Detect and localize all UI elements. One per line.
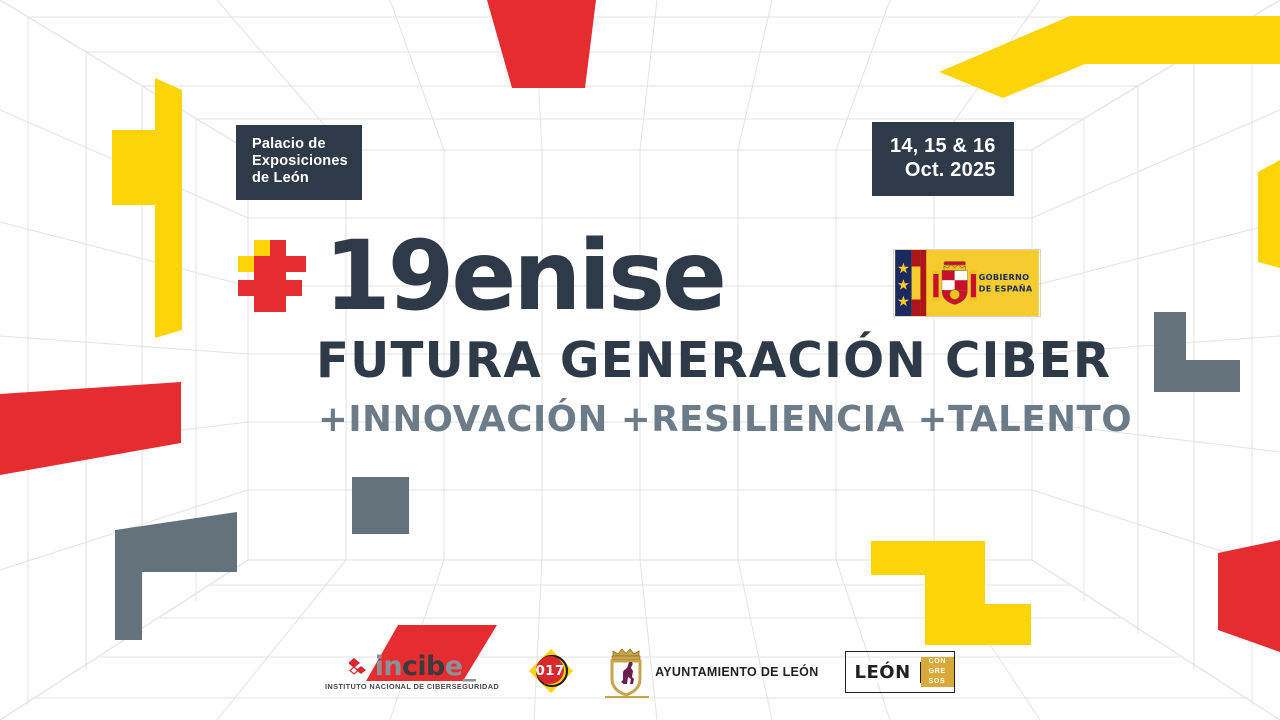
congresos-line-2: GRE [929,667,946,677]
gobierno-line-2: DE ESPAÑA [979,284,1033,294]
leon-crest-icon [603,646,649,698]
leon-congresos-city: LEÓN [846,662,921,683]
gobierno-de-espana-logo: GOBIERNO DE ESPAÑA [893,249,1041,317]
incibe-word-part3: e_ [445,653,476,680]
helpline-number: 017 [536,663,565,679]
poster-canvas: Palacio de Exposiciones de León 14, 15 &… [0,0,1280,720]
shape-red-ceiling [487,0,596,88]
pixel-hash-icon [238,240,306,312]
shape-yellow-right-wall [1258,160,1280,268]
shape-red-left-wall [0,382,181,475]
shape-yellow-step-left [112,130,182,338]
incibe-subtitle: INSTITUTO NACIONAL DE CIBERSEGURIDAD [325,682,499,691]
leon-congresos-logo: LEÓN CON GRE SOS [845,651,956,693]
speech-bubble-icon: 017 [525,647,577,697]
helpline-017-logo: 017 [525,647,577,697]
dates-line-2: Oct. 2025 [890,159,996,183]
incibe-logo: in cib e_ INSTITUTO NACIONAL DE CIBERSEG… [325,653,499,691]
incibe-word-part1: in [375,653,402,680]
headline-tagline: +INNOVACIÓN +RESILIENCIA +TALENTO [318,402,1132,438]
ayuntamiento-de-leon-logo: AYUNTAMIENTO DE LEÓN [603,646,818,698]
shape-red-right-wall [1218,540,1280,652]
leon-congresos-word: CON GRE SOS [921,657,954,687]
congresos-line-1: CON [929,657,946,667]
venue-line-3: de León [252,170,348,187]
venue-badge: Palacio de Exposiciones de León [236,125,362,200]
dates-badge: 14, 15 & 16 Oct. 2025 [872,122,1014,196]
page-title: 19enise [324,228,724,324]
ayuntamiento-label: AYUNTAMIENTO DE LEÓN [655,665,818,679]
congresos-line-3: SOS [929,677,946,687]
footer-logo-bar: in cib e_ INSTITUTO NACIONAL DE CIBERSEG… [0,642,1280,702]
gobierno-line-1: GOBIERNO [979,272,1030,282]
shape-gray-L-right-foot [1154,360,1240,392]
shape-yellow-floor-right [871,541,1031,645]
dates-line-1: 14, 15 & 16 [890,135,996,159]
shape-gray-square [352,477,409,534]
incibe-word-part2: cib [402,653,445,680]
incibe-diamond-icon [349,656,371,678]
title-row: 19enise [238,228,724,324]
venue-line-2: Exposiciones [252,153,348,170]
venue-line-1: Palacio de [252,136,348,153]
incibe-wordmark: in cib e_ [349,653,476,680]
shape-gray-bench-left [115,512,237,640]
headline-subtitle: FUTURA GENERACIÓN CIBER [316,336,1111,385]
